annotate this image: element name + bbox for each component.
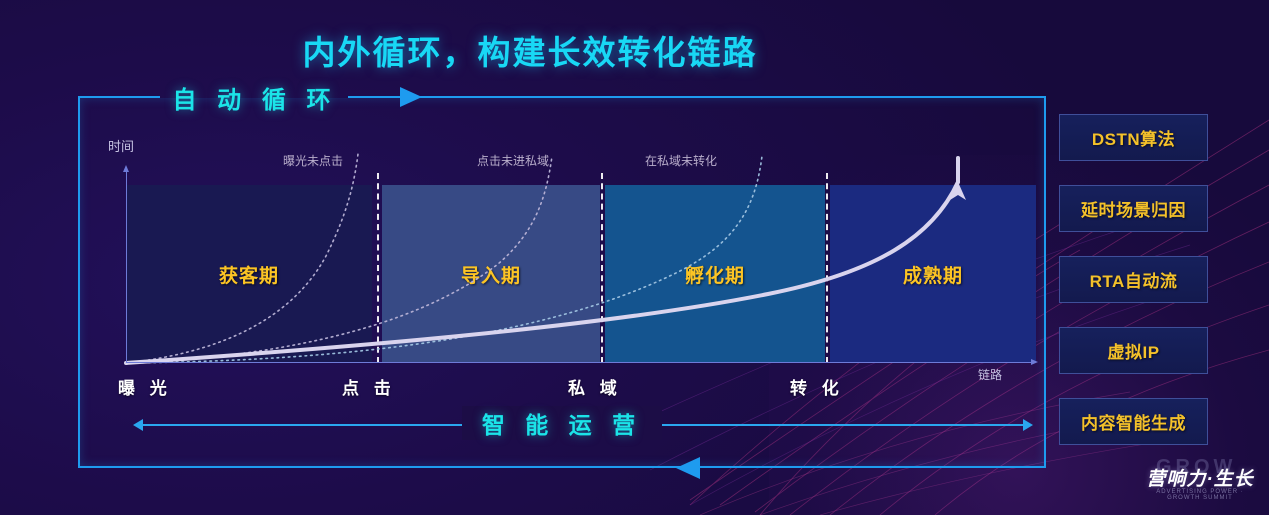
sidebar-item-rta[interactable]: RTA自动流 bbox=[1059, 256, 1208, 303]
loop-top-label: 自 动 循 环 bbox=[160, 80, 350, 115]
x-tick-private: 私 域 bbox=[568, 374, 622, 399]
loop-arrow-right-icon bbox=[400, 87, 422, 107]
stage-label-maturity: 成熟期 bbox=[830, 261, 1036, 288]
x-axis bbox=[126, 362, 1032, 363]
chart-plot-area: 获客期 导入期 孵化期 成熟期 bbox=[126, 185, 1036, 363]
x-tick-conversion: 转 化 bbox=[790, 374, 844, 399]
sidebar-item-dstn[interactable]: DSTN算法 bbox=[1059, 114, 1208, 161]
y-axis-label: 时间 bbox=[108, 136, 134, 155]
x-tick-exposure: 曝 光 bbox=[118, 374, 172, 399]
stage-panel-incubation: 孵化期 bbox=[605, 185, 825, 363]
loop-bottom-label: 智 能 运 营 bbox=[462, 406, 662, 440]
sidebar-item-label: 内容智能生成 bbox=[1081, 409, 1186, 434]
stage-divider-3 bbox=[826, 173, 828, 363]
stage-label-acquisition: 获客期 bbox=[126, 261, 372, 288]
slide-canvas: 内外循环，构建长效转化链路 自 动 循 环 获客期 导入期 孵化期 成熟期 bbox=[0, 0, 1269, 515]
sidebar-item-label: 虚拟IP bbox=[1107, 338, 1159, 363]
page-title: 内外循环，构建长效转化链路 bbox=[0, 26, 1060, 74]
stage-panel-maturity: 成熟期 bbox=[830, 185, 1036, 363]
annotation-private-no-convert: 在私域未转化 bbox=[645, 152, 717, 169]
sidebar-item-content-generation[interactable]: 内容智能生成 bbox=[1059, 398, 1208, 445]
sidebar-item-label: DSTN算法 bbox=[1092, 125, 1175, 150]
stage-label-introduction: 导入期 bbox=[382, 261, 600, 288]
stage-label-incubation: 孵化期 bbox=[605, 261, 825, 288]
sidebar-item-label: 延时场景归因 bbox=[1081, 196, 1186, 221]
loop-arrow-left-icon bbox=[676, 457, 700, 479]
stage-panel-introduction: 导入期 bbox=[382, 185, 600, 363]
loop-frame-top-right-segment bbox=[348, 96, 1046, 98]
x-axis-label: 链路 bbox=[978, 366, 1002, 383]
annotation-click-no-private: 点击未进私域 bbox=[477, 152, 549, 169]
logo-brand-text: 营响力·生长 bbox=[1140, 464, 1260, 491]
x-tick-click: 点 击 bbox=[342, 374, 396, 399]
loop-frame-top-left-segment bbox=[78, 96, 160, 98]
logo-tagline: ADVERTISING POWER · GROWTH SUMMIT bbox=[1140, 489, 1260, 501]
stage-panel-acquisition: 获客期 bbox=[126, 185, 372, 363]
y-axis bbox=[126, 171, 127, 363]
stage-divider-1 bbox=[377, 173, 379, 363]
sidebar-item-delay-attribution[interactable]: 延时场景归因 bbox=[1059, 185, 1208, 232]
brand-logo: GROW 营响力·生长 ADVERTISING POWER · GROWTH S… bbox=[1140, 456, 1260, 508]
sidebar-item-label: RTA自动流 bbox=[1090, 267, 1178, 292]
sidebar-item-virtual-ip[interactable]: 虚拟IP bbox=[1059, 327, 1208, 374]
stage-divider-2 bbox=[601, 173, 603, 363]
annotation-exposure-no-click: 曝光未点击 bbox=[283, 152, 343, 169]
